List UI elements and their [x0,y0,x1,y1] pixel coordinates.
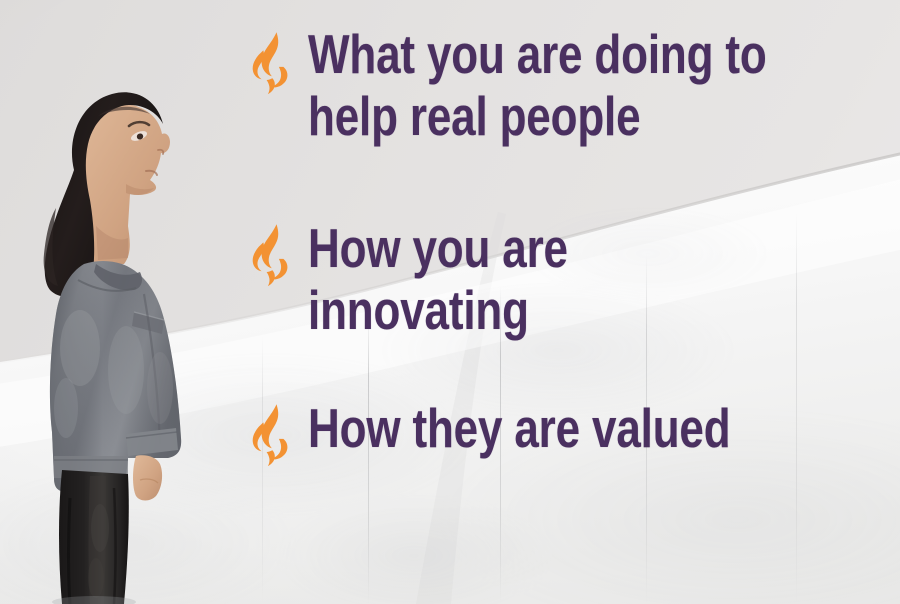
flame-icon [250,222,294,288]
slide-canvas: What you are doing to help real people H… [0,0,900,604]
flame-icon [250,402,294,468]
list-item: What you are doing to help real people [250,24,881,147]
person-photo [18,58,208,604]
list-item: How you are innovating [250,218,900,341]
list-item: How they are valued [250,398,836,468]
bullet-list: What you are doing to help real people H… [250,0,900,604]
list-item-label: What you are doing to help real people [308,24,767,147]
flame-icon [250,30,294,96]
list-item-label: How you are innovating [308,218,782,341]
list-item-label: How they are valued [308,398,730,460]
